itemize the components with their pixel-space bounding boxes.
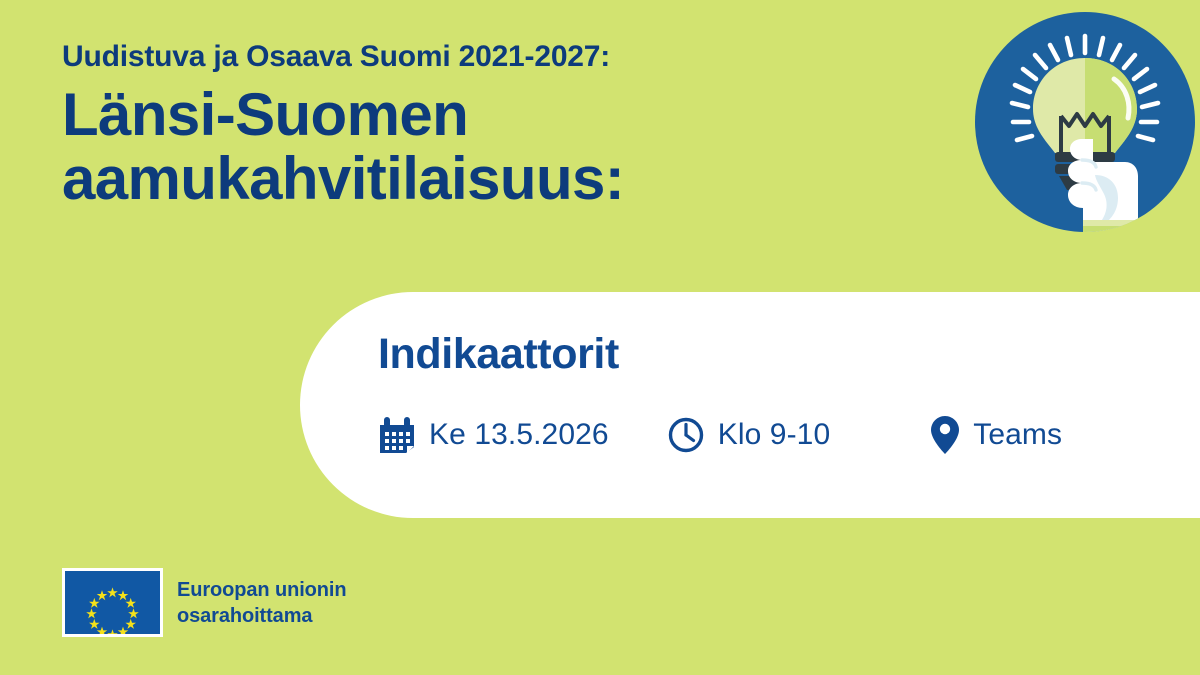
eu-funding-text-line-1: Euroopan unionin [177,577,346,603]
event-time: Klo 9-10 [667,416,831,454]
programme-eyebrow-text: Uudistuva ja Osaava Suomi 2021-2027: [62,40,862,73]
event-location-label: Teams [973,418,1062,452]
event-info-card: Indikaattorit [300,292,1200,518]
event-time-label: Klo 9-10 [718,418,831,452]
event-date-label: Ke 13.5.2026 [429,418,609,452]
clock-icon [667,416,705,454]
page-title: Länsi-Suomen aamukahvitilaisuus: [62,83,862,211]
event-title: Indikaattorit [378,330,619,379]
lightbulb-in-hand-icon [975,12,1195,232]
event-meta-row: Ke 13.5.2026 Klo 9-10 [378,414,1062,456]
event-location: Teams [930,414,1062,456]
eu-funding-text-line-2: osarahoittama [177,603,346,629]
event-date: Ke 13.5.2026 [378,415,609,455]
eu-funding-text: Euroopan unionin osarahoittama [177,577,346,629]
eu-flag-icon [62,568,163,637]
page-title-line-1: Länsi-Suomen [62,83,862,147]
calendar-icon [378,415,416,455]
headline-block: Uudistuva ja Osaava Suomi 2021-2027: Län… [62,40,862,211]
eu-funding-logo: Euroopan unionin osarahoittama [62,568,346,637]
page-title-line-2: aamukahvitilaisuus: [62,147,862,211]
event-banner: Uudistuva ja Osaava Suomi 2021-2027: Län… [0,0,1200,675]
location-pin-icon [930,414,960,456]
